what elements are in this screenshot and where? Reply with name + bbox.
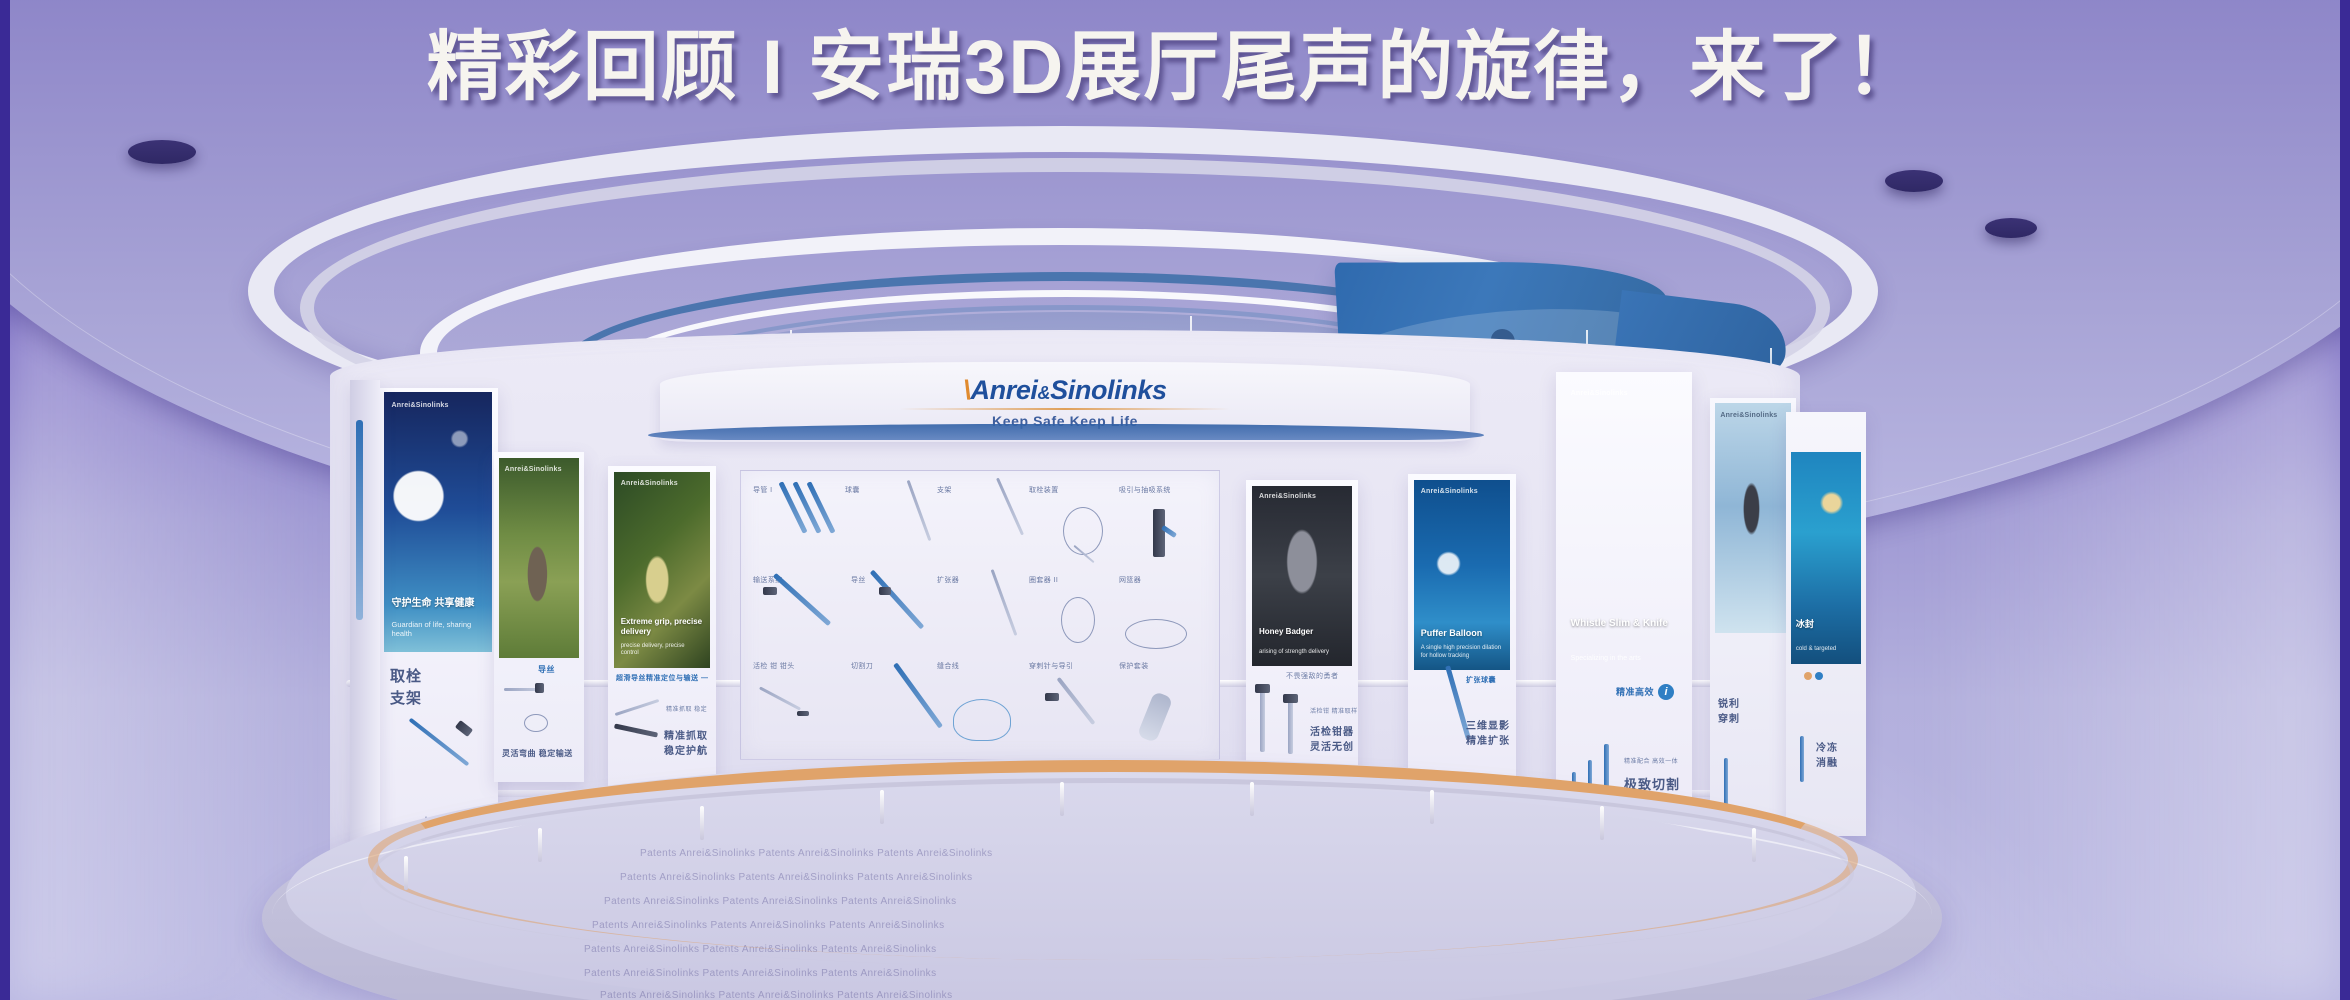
instrument-graphic	[907, 480, 932, 541]
ceiling-light-icon	[1985, 218, 2037, 238]
panel-code: 超滑导丝精准定位与输送 —	[616, 674, 708, 684]
instrument-tip-icon	[1283, 694, 1298, 703]
floor-text-row: Patents Anrei&Sinolinks Patents Anrei&Si…	[584, 968, 936, 979]
panel-caption: 精准抓取 稳定护航	[664, 730, 708, 759]
instrument-tip-icon	[797, 711, 809, 716]
panel-birds[interactable]: Anrei&Sinolinks Whistle Slim & Knife Spe…	[1556, 372, 1692, 836]
product-code: 保护套装	[1119, 661, 1149, 671]
poster-brand-label: Anrei&Sinolinks	[621, 480, 678, 487]
panel-caption: 冷冻 消融	[1816, 742, 1838, 771]
instrument-tip-icon	[455, 720, 473, 737]
instrument-graphic	[996, 478, 1024, 536]
dot-orange-icon	[1804, 672, 1812, 680]
railing-post	[1250, 782, 1254, 816]
product-code: 球囊	[845, 485, 860, 495]
product-code: 活检 钳 钳头	[753, 661, 795, 671]
railing-post	[1752, 828, 1756, 862]
instrument-graphic	[778, 481, 807, 534]
panel-subcode: 精准抓取 稳定	[666, 706, 707, 714]
info-logo-icon: i	[1658, 684, 1674, 700]
instrument-graphic	[1260, 690, 1265, 752]
poster-panda[interactable]: Anrei&Sinolinks 守护生命 共享健康 Guardian of li…	[384, 392, 492, 652]
logo-sinolinks: Sinolinks	[1050, 375, 1166, 405]
logo-anrei: Anrei	[971, 375, 1038, 405]
logo-swoosh-icon: \	[963, 375, 970, 405]
poster-brand-label: Anrei&Sinolinks	[1571, 390, 1628, 397]
poster-title: Extreme grip, precise delivery	[621, 617, 704, 637]
poster-title: Honey Badger	[1259, 627, 1345, 637]
poster-brand-label: Anrei&Sinolinks	[392, 402, 449, 409]
right-border-strip	[2340, 0, 2350, 1000]
railing-post	[404, 856, 408, 890]
poster-subtitle: Specializing in the arts	[1571, 654, 1678, 663]
poster-title: Puffer Balloon	[1421, 628, 1504, 639]
instrument-graphic	[615, 699, 660, 716]
instrument-loop-icon	[953, 699, 1011, 741]
instrument-graphic	[1724, 758, 1728, 808]
instrument-graphic	[1800, 736, 1804, 782]
railing-post	[700, 806, 704, 840]
panel-brand-mark	[1804, 672, 1823, 680]
panel-caption: 锐利 穿刺	[1718, 698, 1740, 727]
product-code: 吸引与抽吸系统	[1119, 485, 1171, 495]
panel-subcode: 活检钳 精准取样	[1310, 708, 1358, 716]
poster-subtitle: arising of strength delivery	[1259, 649, 1345, 657]
panel-kangaroo[interactable]: Anrei&Sinolinks 导丝 灵活弯曲 稳定输送	[494, 452, 584, 782]
product-code: 扩张器	[937, 575, 959, 585]
product-code: 穿刺针与导引	[1029, 661, 1073, 671]
instrument-graphic	[759, 686, 801, 710]
product-code: 网篮器	[1119, 575, 1141, 585]
ceiling-light-icon	[1885, 170, 1943, 192]
product-code: 切割刀	[851, 661, 873, 671]
panel-brand-mark: 精准高效 i	[1616, 684, 1674, 700]
poster-brand-label: Anrei&Sinolinks	[1259, 493, 1316, 500]
railing-post	[538, 828, 542, 862]
instrument-graphic	[991, 569, 1018, 636]
poster-kangaroo[interactable]: Anrei&Sinolinks	[499, 458, 579, 658]
instrument-tip-icon	[1255, 684, 1270, 693]
panel-caption: 三维显影 精准扩张	[1466, 720, 1510, 749]
product-instrument-wall[interactable]: 导管 I 球囊 支架 取栓装置 吸引与抽吸系统 输送系统 导丝 扩张器 圈套器 …	[740, 470, 1220, 760]
instrument-graphic	[1288, 700, 1293, 754]
product-code: 取栓装置	[1029, 485, 1059, 495]
poster-brand-label: Anrei&Sinolinks	[1720, 412, 1777, 419]
instrument-loop-icon	[1125, 619, 1187, 649]
poster-subtitle: A single high precision dilation for hol…	[1421, 645, 1504, 661]
instrument-tip-icon	[1045, 693, 1059, 701]
panel-badger[interactable]: Anrei&Sinolinks Honey Badger arising of …	[1246, 480, 1358, 780]
panel-gecko[interactable]: Anrei&Sinolinks Extreme grip, precise de…	[608, 466, 716, 788]
panel-caption: 取栓 支架	[390, 666, 422, 710]
panel-brand-cn: 精准高效	[1616, 686, 1654, 699]
product-code: 导丝	[851, 575, 866, 585]
exhibition-hall-screenshot: \Anrei&Sinolinks Keep Safe Keep Life Anr…	[0, 0, 2350, 1000]
product-code: 导管 I	[753, 485, 773, 495]
instrument-graphic	[1057, 677, 1096, 725]
panel-puffer[interactable]: Anrei&Sinolinks Puffer Balloon A single …	[1408, 474, 1516, 784]
poster-birds[interactable]: Anrei&Sinolinks Whistle Slim & Knife Spe…	[1562, 378, 1686, 678]
instrument-graphic	[806, 481, 835, 534]
brand-logo-text: \Anrei&Sinolinks	[963, 375, 1166, 406]
instrument-graphic	[1153, 509, 1165, 557]
poster-subtitle: cold & targeted	[1796, 646, 1856, 654]
logo-band-rim	[648, 424, 1484, 440]
logo-ampersand: &	[1038, 383, 1051, 403]
instrument-tip-icon	[535, 683, 544, 693]
product-code: 缝合线	[937, 661, 959, 671]
poster-subtitle: precise delivery, precise control	[621, 643, 704, 659]
instrument-tip-icon	[879, 587, 891, 595]
panel-eagle[interactable]: Anrei&Sinolinks 锐利 穿刺	[1710, 398, 1796, 828]
instrument-tip-icon	[763, 587, 777, 595]
railing-post	[880, 790, 884, 824]
poster-puffer[interactable]: Anrei&Sinolinks Puffer Balloon A single …	[1414, 480, 1510, 670]
left-border-strip	[0, 0, 10, 1000]
panel-caption: 活检钳器 灵活无创	[1310, 726, 1354, 755]
panel-code: 不畏强敌的勇者	[1286, 672, 1339, 682]
panel-panda[interactable]: Anrei&Sinolinks 守护生命 共享健康 Guardian of li…	[378, 388, 498, 838]
stage-railing-inner	[372, 778, 1854, 968]
logo-divider	[900, 408, 1230, 410]
panel-code: 扩张球囊	[1466, 676, 1496, 686]
poster-ocean[interactable]: 冰封 cold & targeted	[1791, 452, 1861, 664]
poster-eagle[interactable]: Anrei&Sinolinks	[1715, 403, 1791, 633]
panel-caption: 灵活弯曲 稳定输送	[502, 748, 573, 759]
poster-title: 守护生命 共享健康	[392, 598, 485, 611]
dot-blue-icon	[1815, 672, 1823, 680]
product-code: 圈套器 II	[1029, 575, 1058, 585]
panel-panda-side	[350, 380, 380, 842]
instrument-graphic	[870, 570, 925, 630]
instrument-loop-icon	[1061, 597, 1095, 643]
poster-brand-label: Anrei&Sinolinks	[505, 466, 562, 473]
product-code: 支架	[937, 485, 952, 495]
instrument-graphic	[773, 573, 831, 626]
ceiling-light-icon	[128, 140, 196, 164]
instrument-graphic	[893, 662, 943, 728]
panel-code: 导丝	[538, 664, 555, 675]
poster-subtitle: Guardian of life, sharing health	[392, 620, 485, 640]
instrument-loop-icon	[524, 714, 548, 732]
poster-title: 冰封	[1796, 619, 1856, 630]
instrument-loop-icon	[1063, 507, 1103, 555]
poster-brand-label: Anrei&Sinolinks	[1421, 488, 1478, 495]
instrument-tip-icon	[614, 723, 658, 737]
poster-gecko[interactable]: Anrei&Sinolinks Extreme grip, precise de…	[614, 472, 710, 668]
page-title: 精彩回顾 I 安瑞3D展厅尾声的旋律，来了！	[0, 28, 2350, 108]
panel-panda-blue-stripe	[356, 420, 363, 620]
railing-post	[1060, 782, 1064, 816]
instrument-graphic	[792, 481, 821, 534]
panel-ocean[interactable]: 冰封 cold & targeted 冷冻 消融	[1786, 412, 1866, 836]
panel-code: 精准配合 高效一体	[1624, 758, 1678, 766]
instrument-graphic	[1137, 691, 1174, 743]
railing-post	[1600, 806, 1604, 840]
floor-text-row: Patents Anrei&Sinolinks Patents Anrei&Si…	[600, 990, 952, 1000]
poster-badger[interactable]: Anrei&Sinolinks Honey Badger arising of …	[1252, 486, 1352, 666]
railing-post	[1430, 790, 1434, 824]
poster-title: Whistle Slim & Knife	[1571, 618, 1678, 631]
